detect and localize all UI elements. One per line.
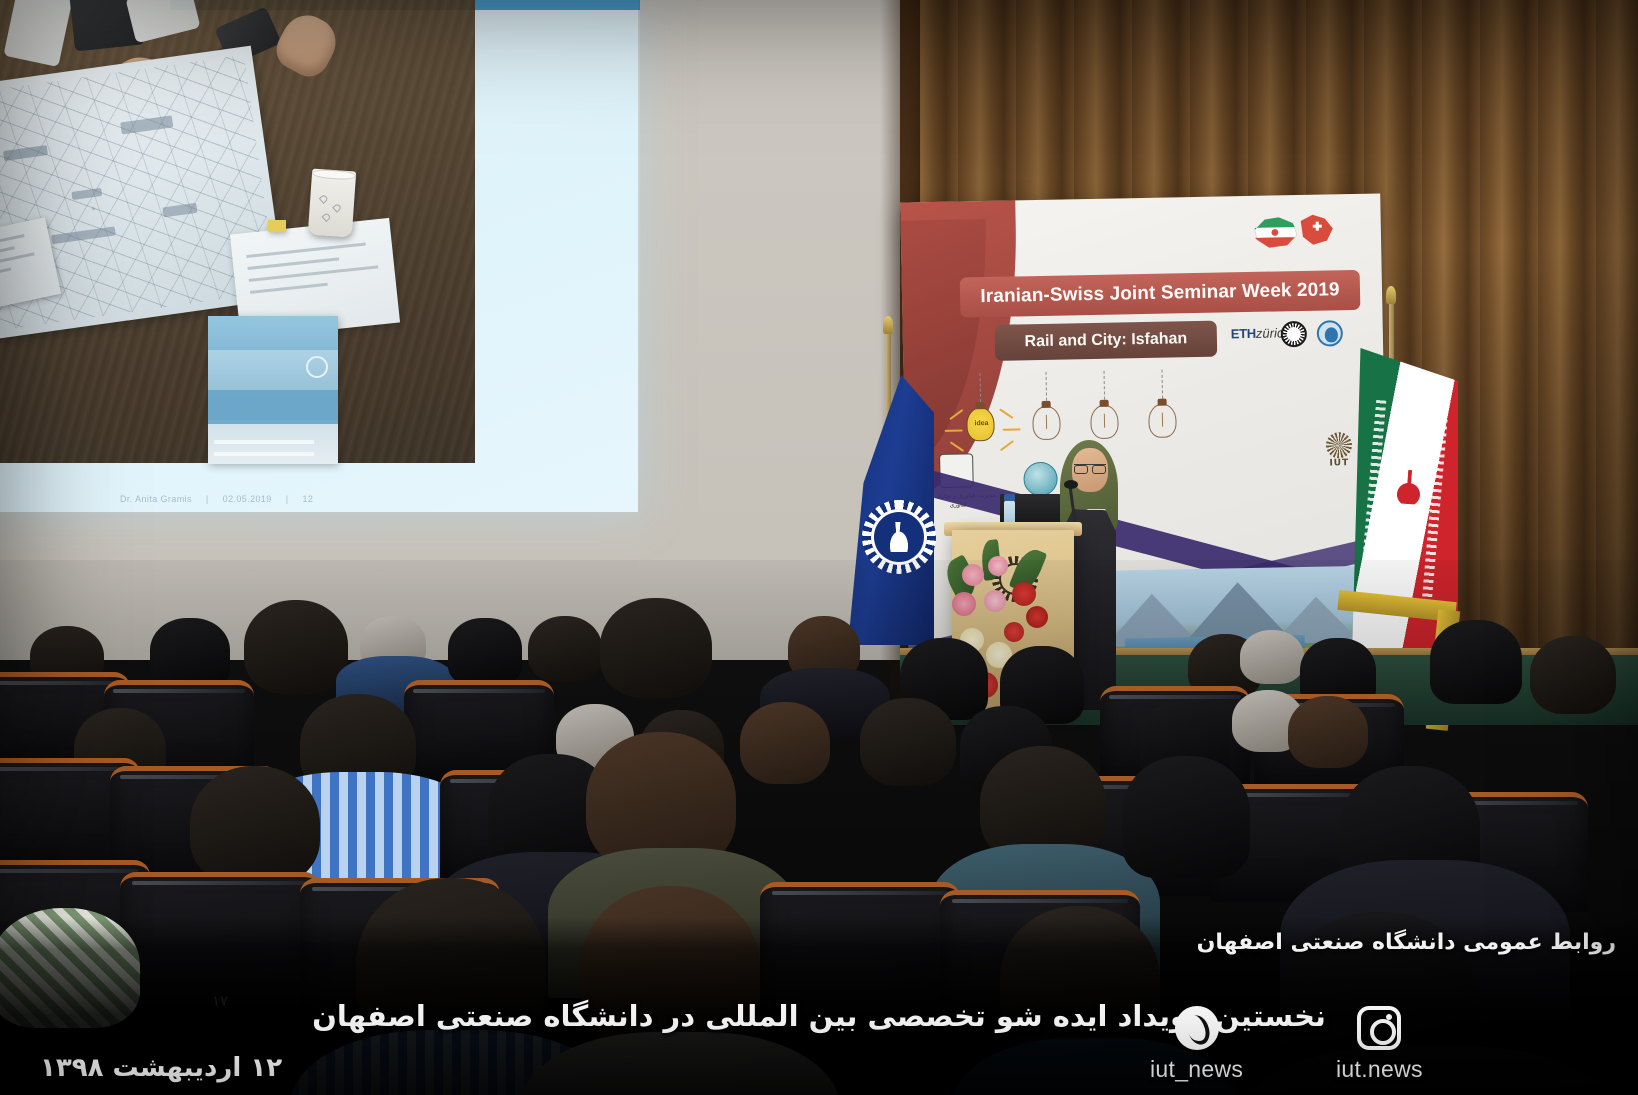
- soroush-account[interactable]: iut_news: [1150, 1006, 1243, 1083]
- audience-head: [1240, 630, 1304, 684]
- slide-sep-1: |: [206, 494, 209, 504]
- iut-glyph: [1326, 432, 1352, 458]
- bulb-cap: [976, 402, 985, 409]
- eth-bold-text: ETH: [1231, 326, 1256, 341]
- audience-head: [190, 766, 320, 886]
- banner-title: Iranian-Swiss Joint Seminar Week 2019: [980, 279, 1340, 308]
- audience-head: [860, 698, 956, 786]
- audience-head: [1288, 696, 1368, 768]
- caption-overlay: روابط عمومی دانشگاه صنعتی اصفهان نخستین …: [0, 917, 1638, 1095]
- audience-head: [600, 598, 712, 698]
- speaker-glasses: [1074, 464, 1106, 471]
- audience-head: [448, 618, 522, 684]
- slide-workshop-photo: [0, 0, 475, 463]
- instagram-icon[interactable]: [1357, 1006, 1401, 1050]
- iut-gear-logo: [1281, 321, 1307, 347]
- slide-footer: Dr. Anita Gramis | 02.05.2019 | 12: [120, 494, 480, 504]
- slide-band: [208, 390, 338, 424]
- projection-screen: Dr. Anita Gramis | 02.05.2019 | 12: [0, 0, 638, 512]
- audience-head: [740, 702, 830, 784]
- banner-subtitle: Rail and City: Isfahan: [1024, 330, 1187, 351]
- soroush-icon[interactable]: [1175, 1006, 1219, 1050]
- soroush-handle[interactable]: iut_news: [1150, 1056, 1243, 1083]
- iran-flag-finial: [1386, 286, 1396, 304]
- event-photo: Dr. Anita Gramis | 02.05.2019 | 12 Irani…: [0, 0, 1638, 1095]
- slide-sep-2: |: [286, 494, 289, 504]
- slide-caption-bar: [214, 440, 314, 444]
- audience-head: [1530, 636, 1616, 714]
- iut-flag-pole: [886, 330, 891, 420]
- iut-flag-finial: [883, 316, 893, 334]
- audience-head: [1122, 756, 1250, 878]
- iut-logo-label: IUT: [1329, 458, 1349, 468]
- slide-logo-circle: [306, 356, 328, 378]
- audience-head: [244, 600, 348, 694]
- bulb-idea-label: idea: [967, 420, 995, 428]
- audience-head: [150, 618, 230, 688]
- iut-flag-emblem-inner: [884, 522, 914, 552]
- lightbulb-idea: idea: [966, 407, 995, 442]
- audience-head: [528, 616, 602, 682]
- iran-flag-emblem: [1391, 469, 1427, 505]
- water-bottle-cap: [1004, 494, 1015, 501]
- slide-date: 02.05.2019: [223, 494, 272, 504]
- partner-circle-logo: [1317, 320, 1343, 346]
- public-relations-label: روابط عمومی دانشگاه صنعتی اصفهان: [1197, 930, 1616, 955]
- slide-caption-bar-2: [214, 452, 314, 456]
- sponsor-logo-iut: IUT: [1320, 432, 1359, 477]
- lightbulb-3: [1090, 405, 1119, 440]
- iran-swiss-map-icon: [1248, 208, 1339, 254]
- banner-subtitle-pill: Rail and City: Isfahan: [995, 321, 1218, 361]
- instagram-handle[interactable]: iut.news: [1336, 1056, 1423, 1083]
- slide-author: Dr. Anita Gramis: [120, 494, 192, 504]
- sticky-note: [268, 220, 286, 232]
- event-date: ۱۲ اردیبهشت ۱۳۹۸: [40, 1053, 282, 1083]
- paper-cup: [308, 169, 356, 238]
- sponsor-logo-iun: [1023, 462, 1058, 497]
- lightbulb-2: [1032, 406, 1061, 441]
- lightbulb-row: idea: [954, 366, 1376, 462]
- lightbulb-4: [1148, 403, 1177, 438]
- cup-rim: [312, 169, 357, 181]
- audience-head: [1430, 620, 1522, 704]
- instagram-dot: [1386, 1014, 1392, 1020]
- banner-title-pill: Iranian-Swiss Joint Seminar Week 2019: [960, 270, 1361, 318]
- slide-page-number: 12: [302, 494, 313, 504]
- instagram-account[interactable]: iut.news: [1336, 1006, 1423, 1083]
- microphone-head: [1064, 480, 1078, 489]
- printed-slide-photo: [208, 316, 338, 464]
